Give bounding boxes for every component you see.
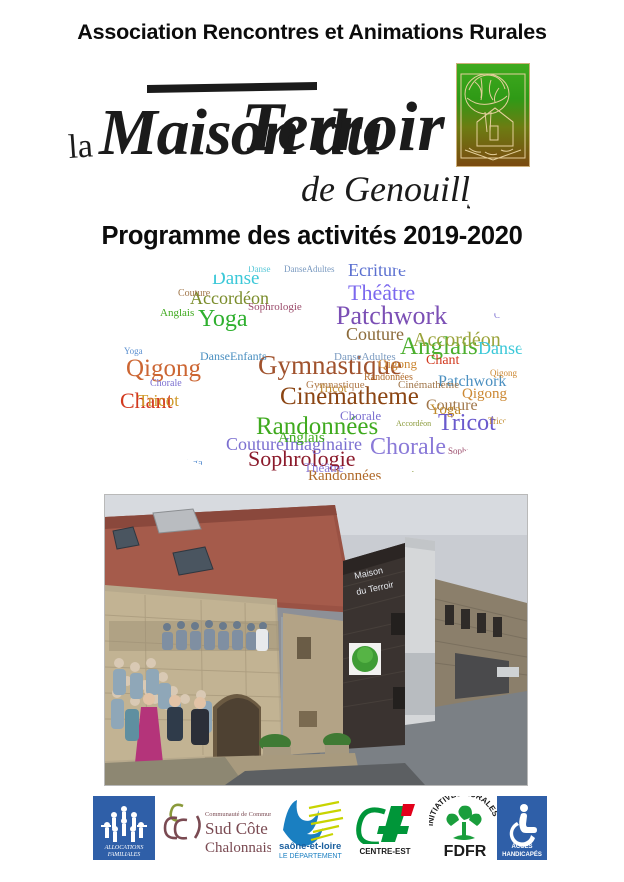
- cc-tagline: Communauté de Communes: [205, 811, 271, 818]
- acces-handicapes-logo: ACCÈS HANDICAPÉS: [497, 796, 547, 860]
- word-cloud-term: Yoga: [124, 346, 143, 356]
- word-cloud-term: Accordéon: [396, 419, 431, 428]
- word-cloud-term: Qigong: [462, 386, 508, 402]
- cc-line1: Sud Côte: [205, 819, 268, 838]
- word-cloud-term: Danse: [248, 264, 271, 274]
- word-cloud-term: Qigong: [490, 368, 518, 378]
- word-cloud-term: Tricot: [138, 391, 179, 410]
- word-cloud-term: Couture: [110, 439, 136, 448]
- word-cloud-term: Anglais: [278, 430, 325, 446]
- programme-subtitle: Programme des activités 2019-2020: [0, 222, 624, 251]
- fdfr-line1: FDFR: [444, 843, 487, 860]
- word-cloud-term: Gymnastique: [306, 379, 365, 391]
- word-cloud-term: Randonnées: [364, 372, 413, 383]
- ah-line2: HANDICAPÉS: [502, 850, 542, 858]
- sl-line1: saône-et-loire: [279, 841, 341, 852]
- fdfr-initiatives-rurales-logo: INITIATIVES RURALES FDFR: [429, 796, 501, 860]
- word-cloud-term: Anglais: [160, 307, 194, 319]
- logo-wordmark: la Maison du Terroir de Genouilly: [55, 74, 470, 179]
- maison-du-terroir-building-photo: Maison du Terroir: [104, 494, 528, 786]
- word-cloud-term: Sophrologie: [248, 301, 302, 313]
- logo-text-terroir: Terroir: [241, 89, 445, 166]
- sl-line2: LE DÉPARTEMENT: [279, 851, 342, 860]
- ca-line1: CENTRE-EST: [359, 847, 410, 856]
- word-cloud-term: Gymnastique: [228, 483, 271, 486]
- saone-et-loire-departement-logo: saône-et-loire LE DÉPARTEMENT: [275, 796, 353, 860]
- partner-logos-bar: ALLOCATIONS FAMILIALES Communauté de Com…: [93, 796, 543, 862]
- word-cloud-term: Chorale: [150, 378, 182, 389]
- ah-line1: ACCÈS: [511, 842, 532, 850]
- word-cloud-term: Yoga: [180, 457, 203, 469]
- word-cloud-term: DanseAdultes: [334, 351, 396, 363]
- word-cloud-term: Couture: [178, 288, 211, 299]
- word-cloud-term: Théâtre: [304, 460, 344, 475]
- word-cloud-term: DanseEnfants: [200, 349, 267, 363]
- word-cloud-term: Chorale: [370, 434, 446, 460]
- word-cloud-term: Chorale: [494, 310, 523, 320]
- credit-agricole-logo: CENTRE-EST: [351, 796, 427, 860]
- word-cloud-term: Ecriture: [348, 260, 406, 280]
- word-cloud-term: Chorale: [340, 408, 381, 423]
- word-cloud-term: Chant: [426, 353, 460, 368]
- word-cloud-term: Théâtre: [348, 280, 415, 305]
- activities-word-cloud: GymnastiqueCinemathemePatchworkRandonnée…: [108, 258, 528, 486]
- word-cloud-term: Tricot: [488, 416, 510, 426]
- word-cloud-term: Patchwork: [164, 477, 198, 486]
- page-title: Association Rencontres et Animations Rur…: [0, 20, 624, 45]
- word-cloud-term: Danse: [478, 338, 523, 358]
- word-cloud-term: Sophrologie: [448, 446, 492, 456]
- word-cloud-term: DanseAdultes: [284, 264, 335, 274]
- caf-label-line1: ALLOCATIONS: [104, 845, 144, 851]
- communaute-de-communes-logo: Communauté de Communes Sud Côte Chalonna…: [161, 796, 271, 860]
- cc-line2: Chalonnaise: [205, 840, 271, 856]
- word-cloud-term: Yoga: [198, 306, 248, 332]
- allocations-familiales-logo: ALLOCATIONS FAMILIALES: [93, 796, 155, 860]
- poster-page: Association Rencontres et Animations Rur…: [0, 0, 624, 882]
- tree-and-house-emblem-icon: [456, 63, 530, 167]
- logo-text-subline: de Genouilly: [301, 169, 470, 209]
- word-cloud-term: Couture: [346, 324, 404, 344]
- word-cloud-term: Accordéon: [408, 469, 469, 484]
- logo-text-la: la: [67, 127, 94, 166]
- caf-label-line2: FAMILIALES: [107, 852, 141, 858]
- maison-du-terroir-logo: la Maison du Terroir de Genouilly: [55, 68, 575, 208]
- word-cloud-term: Théâtre: [132, 290, 163, 301]
- word-cloud-term: Anglais: [456, 460, 484, 470]
- word-cloud-svg: GymnastiqueCinemathemePatchworkRandonnée…: [108, 258, 528, 486]
- word-cloud-term: Yoga: [430, 402, 461, 418]
